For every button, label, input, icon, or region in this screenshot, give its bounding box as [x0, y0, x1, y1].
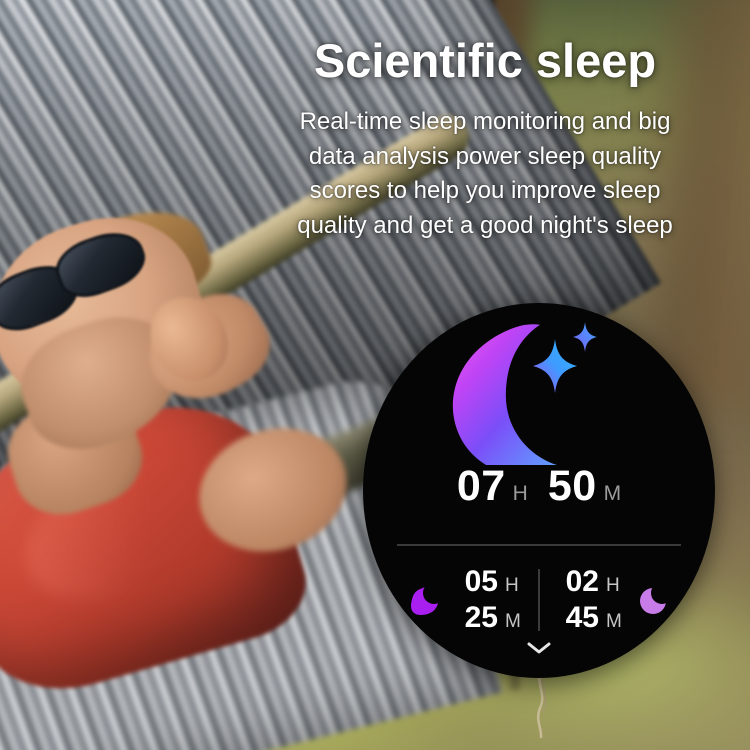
- light-sleep-stat[interactable]: 02 H 45 M: [553, 565, 674, 634]
- vertical-divider: [538, 569, 540, 631]
- hero-subtitle: Real-time sleep monitoring and big data …: [255, 105, 715, 243]
- chevron-down-icon[interactable]: [526, 641, 552, 655]
- subtitle-line-2: data analysis power sleep quality: [255, 140, 715, 175]
- deep-sleep-hours-unit: H: [505, 575, 525, 596]
- light-sleep-minutes-row: 45 M: [553, 601, 626, 635]
- page-title: Scientific sleep: [255, 36, 715, 85]
- deep-sleep-hours-row: 05 H: [452, 565, 525, 599]
- total-sleep-minutes-unit: M: [604, 483, 622, 504]
- light-sleep-minutes: 45: [553, 601, 599, 635]
- total-sleep-time: 07 H 50 M: [363, 465, 715, 508]
- crescent-moon-with-stars-icon: [363, 315, 715, 465]
- subtitle-line-4: quality and get a good night's sleep: [255, 209, 715, 244]
- light-sleep-hours: 02: [553, 565, 599, 599]
- smartwatch-sleep-screen[interactable]: 07 H 50 M 05 H: [363, 303, 715, 678]
- total-sleep-hours: 07: [457, 465, 506, 508]
- sleep-breakdown: 05 H 25 M 02 H: [363, 565, 715, 634]
- promo-banner: Scientific sleep Real-time sleep monitor…: [0, 0, 750, 750]
- deep-sleep-minutes-row: 25 M: [452, 601, 525, 635]
- total-sleep-minutes: 50: [548, 465, 597, 508]
- hero-text: Scientific sleep Real-time sleep monitor…: [255, 36, 715, 244]
- horizontal-divider: [397, 544, 681, 546]
- moon-icon: [404, 580, 444, 620]
- deep-sleep-hours: 05: [452, 565, 498, 599]
- moon-icon: [634, 580, 674, 620]
- light-sleep-hours-row: 02 H: [553, 565, 626, 599]
- hammock-cord: [532, 668, 550, 738]
- subtitle-line-1: Real-time sleep monitoring and big: [255, 105, 715, 140]
- deep-sleep-minutes: 25: [452, 601, 498, 635]
- deep-sleep-stat[interactable]: 05 H 25 M: [404, 565, 525, 634]
- light-sleep-minutes-unit: M: [606, 611, 626, 632]
- light-sleep-hours-unit: H: [606, 575, 626, 596]
- deep-sleep-minutes-unit: M: [505, 611, 525, 632]
- total-sleep-hours-unit: H: [513, 483, 528, 504]
- subtitle-line-3: scores to help you improve sleep: [255, 174, 715, 209]
